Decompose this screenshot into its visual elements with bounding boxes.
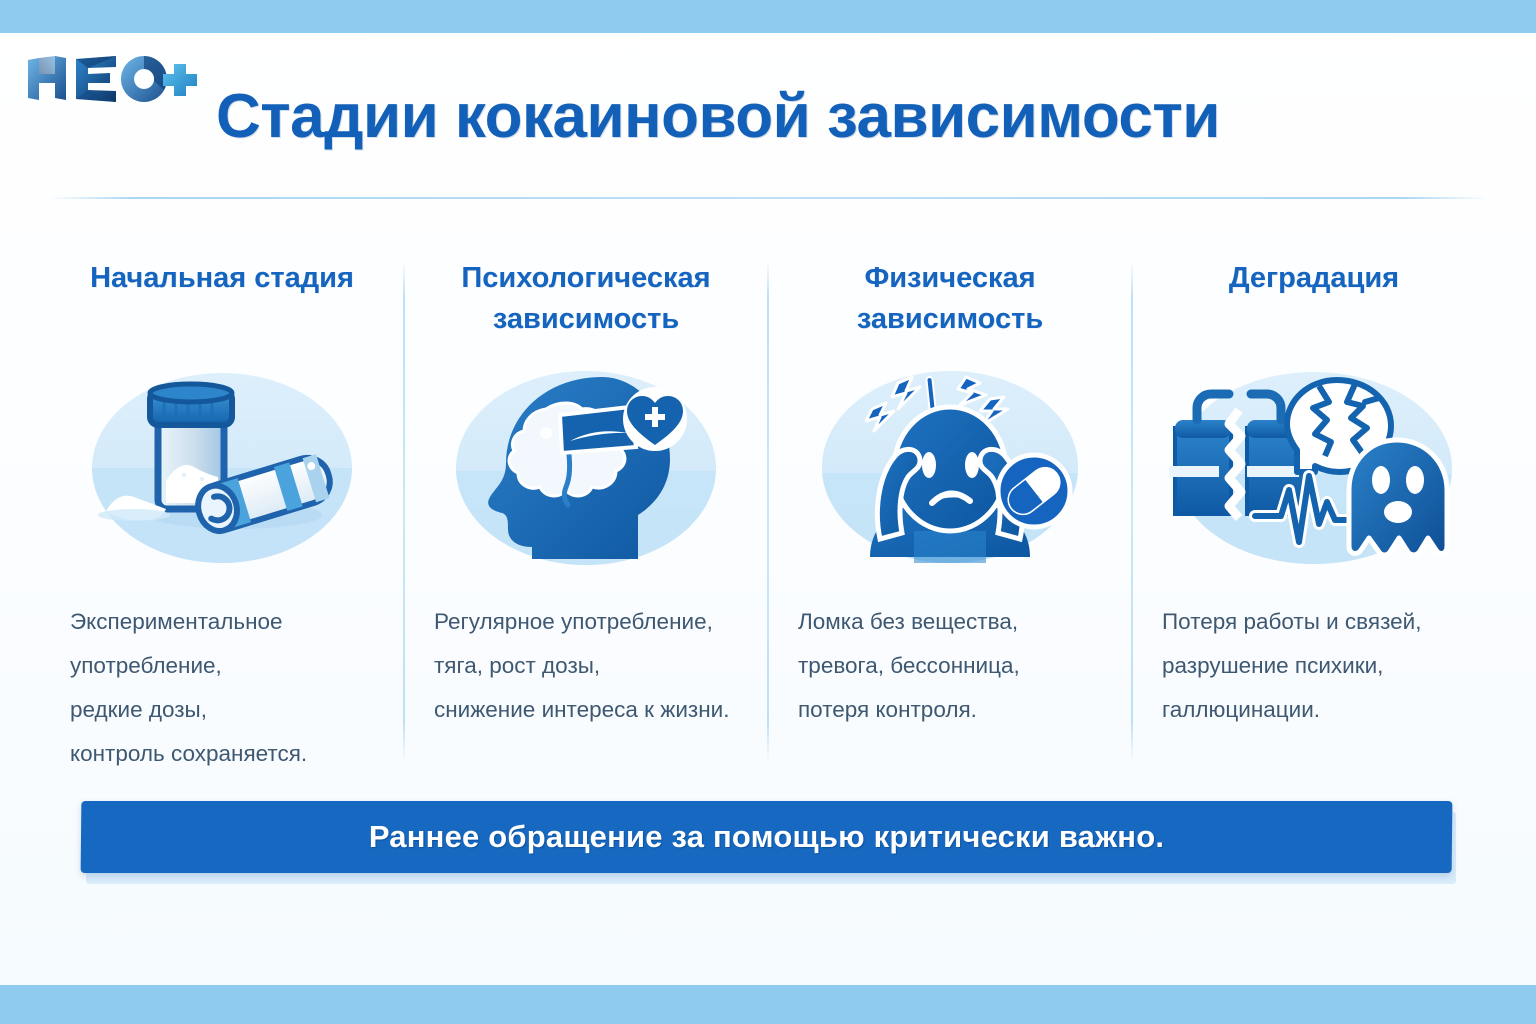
- stage-body-3-line-2: потеря контроля.: [798, 688, 1108, 732]
- stage-body-2-line-2: снижение интереса к жизни.: [434, 688, 744, 732]
- broken-briefcase-cracked-brain-ghost-icon: [1150, 354, 1478, 582]
- title-divider: [48, 197, 1488, 199]
- stage-body-3: Ломка без вещества, тревога, бессонница,…: [786, 582, 1114, 732]
- neo-plus-logo: [24, 52, 204, 106]
- stage-body-1-line-2: редкие дозы,: [70, 688, 380, 732]
- infographic-poster: Стадии кокаиновой зависимости Начальная …: [0, 0, 1536, 1024]
- stage-body-2-line-1: тяга, рост дозы,: [434, 644, 744, 688]
- stage-body-2: Регулярное употребление, тяга, рост дозы…: [422, 582, 750, 732]
- stage-body-3-line-0: Ломка без вещества,: [798, 600, 1108, 644]
- stage-card-1: Начальная стадия: [40, 252, 404, 772]
- stage-body-4: Потеря работы и связей, разрушение психи…: [1150, 582, 1478, 732]
- stage-title-2-line2: зависимость: [493, 303, 679, 335]
- stage-title-3-line1: Физическая: [864, 262, 1035, 294]
- stage-body-1-line-3: контроль сохраняется.: [70, 732, 380, 776]
- stage-body-1-line-1: употребление,: [70, 644, 380, 688]
- stage-title-2: Психологическая зависимость: [422, 252, 750, 354]
- stage-title-1: Начальная стадия: [58, 252, 386, 354]
- stage-title-3: Физическая зависимость: [786, 252, 1114, 354]
- stage-body-1-line-0: Экспериментальное: [70, 600, 380, 644]
- stage-card-3: Физическая зависимость: [768, 252, 1132, 772]
- distressed-person-headache-pill-icon: [786, 354, 1114, 582]
- bottom-accent-strip: [0, 985, 1536, 1024]
- stage-title-4: Деградация: [1150, 252, 1478, 354]
- footer-banner-message: Раннее обращение за помощью критически в…: [81, 801, 1452, 873]
- stage-body-2-line-0: Регулярное употребление,: [434, 600, 744, 644]
- stage-title-3-line2: зависимость: [857, 303, 1043, 335]
- stage-title-1-line1: Начальная: [90, 262, 246, 294]
- stage-title-1-line2: стадия: [254, 262, 354, 294]
- stage-card-4: Деградация: [1132, 252, 1496, 772]
- page-title: Стадии кокаиновой зависимости: [216, 78, 1336, 156]
- stage-card-2: Психологическая зависимость: [404, 252, 768, 772]
- stage-body-1: Экспериментальное употребление, редкие д…: [58, 582, 386, 776]
- stage-title-2-line1: Психологическая: [461, 262, 710, 294]
- stage-body-4-line-0: Потеря работы и связей,: [1162, 600, 1472, 644]
- stage-title-4-line1: Деградация: [1229, 262, 1399, 294]
- head-brain-powder-line-heart-plus-icon: [422, 354, 750, 582]
- stage-body-4-line-2: галлюцинации.: [1162, 688, 1472, 732]
- stages-container: Начальная стадия: [40, 252, 1496, 772]
- top-accent-strip: [0, 0, 1536, 33]
- stage-body-4-line-1: разрушение психики,: [1162, 644, 1472, 688]
- pill-bottle-powder-rolled-bill-icon: [58, 354, 386, 582]
- stage-body-3-line-1: тревога, бессонница,: [798, 644, 1108, 688]
